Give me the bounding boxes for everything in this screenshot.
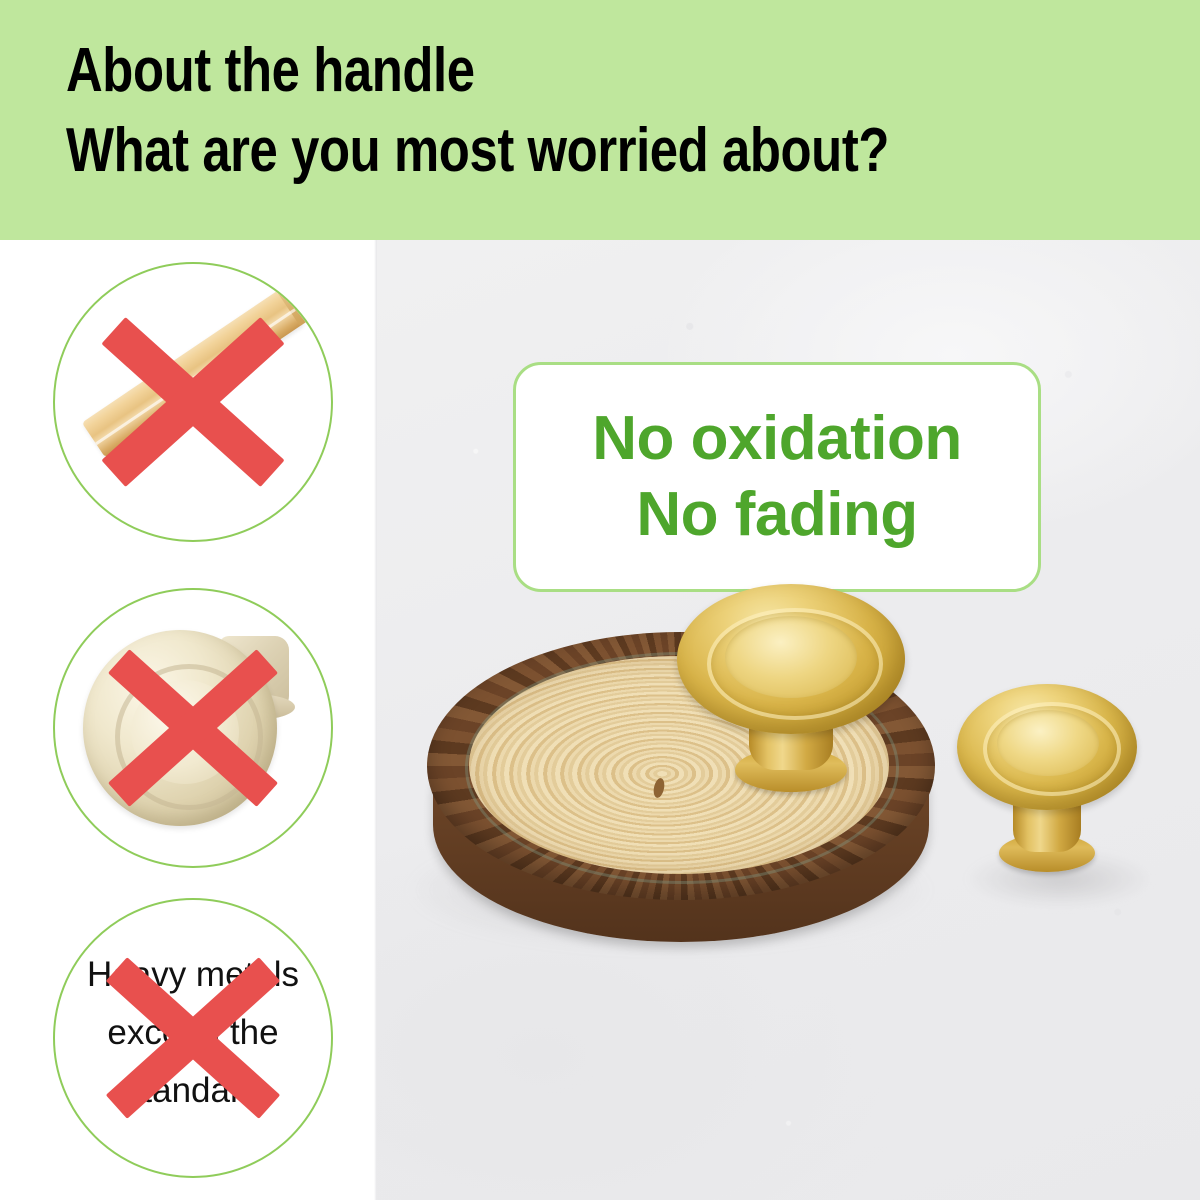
knob-dome — [83, 630, 277, 826]
pale-tarnished-knob-icon — [71, 612, 315, 844]
large-knob-dome — [677, 584, 905, 734]
heavy-metals-line-2: exceed the — [55, 1004, 331, 1062]
heavy-metals-line-1: Heavy metals — [55, 946, 331, 1004]
problems-column: Heavy metals exceed the standard — [0, 240, 375, 1200]
product-infographic: About the handle What are you most worri… — [0, 0, 1200, 1200]
large-knob-inner-cap — [725, 616, 857, 698]
small-knob-inner-cap — [997, 710, 1099, 776]
wooden-bar-end — [277, 282, 314, 326]
content-area: Heavy metals exceed the standard No oxid… — [0, 240, 1200, 1200]
small-knob-dome — [957, 684, 1137, 810]
product-photo — [377, 570, 1200, 1200]
wooden-bar-handle-icon — [82, 288, 304, 457]
large-brass-knob — [673, 570, 909, 820]
header-title-line-2: What are you most worried about? — [66, 116, 889, 186]
header-banner: About the handle What are you most worri… — [0, 0, 1200, 240]
benefit-column: No oxidation No fading — [377, 240, 1200, 1200]
knob-inner-cap — [131, 680, 239, 784]
problem-item-tarnished-knob — [53, 588, 333, 868]
heavy-metals-label: Heavy metals exceed the standard — [55, 946, 331, 1120]
benefit-callout-box: No oxidation No fading — [513, 362, 1041, 592]
benefit-line-1: No oxidation — [592, 401, 961, 477]
header-title-line-1: About the handle — [66, 36, 475, 106]
benefit-line-2: No fading — [636, 477, 917, 553]
problem-item-wooden-bar-handle — [53, 262, 333, 542]
heavy-metals-line-3: standard — [55, 1062, 331, 1120]
small-brass-knob — [955, 678, 1139, 894]
problem-item-heavy-metals: Heavy metals exceed the standard — [53, 898, 333, 1178]
